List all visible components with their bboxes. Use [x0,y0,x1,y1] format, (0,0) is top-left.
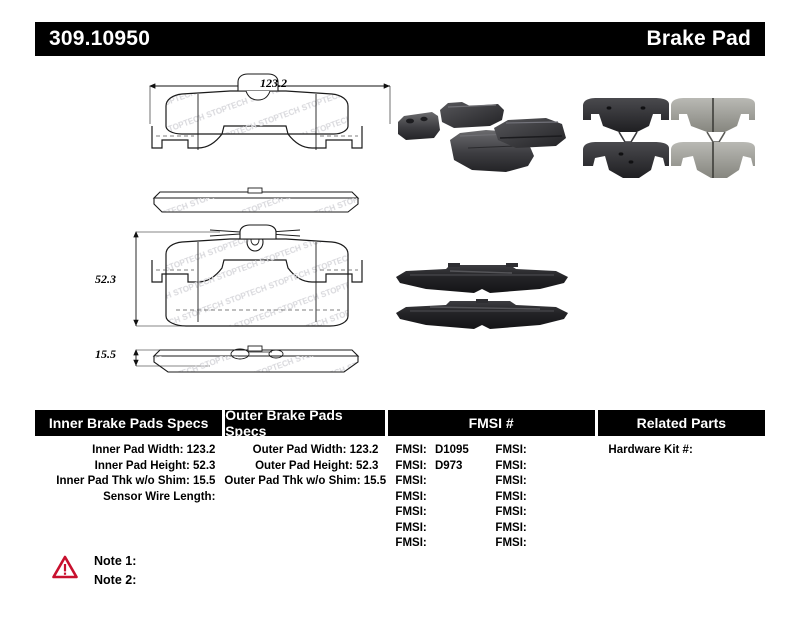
spec-row: Outer Pad Height: 52.3 [224,459,384,475]
fmsi-value [427,491,432,503]
fmsi-row: FMSI: [495,521,595,537]
fmsi-row: FMSI: [495,474,595,490]
fmsi-subcolumn-left: FMSI: D1095 FMSI: D973 FMSI: FMSI: [395,443,495,552]
spec-row: Outer Pad Width: 123.2 [224,443,384,459]
fmsi-row: FMSI: [395,505,495,521]
drawing-area: STOPTECH [35,64,765,394]
outer-specs-column: Outer Pad Width: 123.2 Outer Pad Height:… [224,443,384,552]
related-parts-column: Hardware Kit #: [598,443,765,552]
spec-label: Inner Pad Height: [95,460,190,472]
spec-label: Inner Pad Width: [92,444,183,456]
header-bar: 309.10950 Brake Pad [35,22,765,56]
spec-row: Inner Pad Thk w/o Shim: 15.5 [35,474,221,490]
pad-set-angled-photo [390,92,580,182]
note-line-2: Note 2: [94,571,136,590]
dimension-height-label: 52.3 [95,272,116,287]
pad-set-angled-svg [390,92,580,182]
fmsi-label: FMSI: [495,537,526,549]
fmsi-label: FMSI: [495,491,526,503]
fmsi-value [527,491,532,503]
notes-text-block: Note 1: Note 2: [94,552,136,590]
column-header-inner-specs: Inner Brake Pads Specs [35,410,222,436]
spec-table: Inner Brake Pads Specs Outer Brake Pads … [35,410,765,552]
pad-pair-edge-photo [390,259,575,344]
fmsi-row: FMSI: [395,521,495,537]
fmsi-label: FMSI: [395,444,426,456]
fmsi-value: D1095 [430,444,469,456]
fmsi-label: FMSI: [495,475,526,487]
fmsi-label: FMSI: [395,460,426,472]
fmsi-value [527,460,532,472]
fmsi-value [427,537,432,549]
fmsi-subcolumn-right: FMSI: FMSI: FMSI: FMSI: [495,443,595,552]
fmsi-row: FMSI: [395,536,495,552]
dimension-thickness-label: 15.5 [95,347,116,362]
fmsi-label: FMSI: [395,475,426,487]
fmsi-row: FMSI: [395,490,495,506]
fmsi-row: FMSI: D1095 [395,443,495,459]
spec-label: Outer Pad Thk w/o Shim: [224,475,360,487]
fmsi-value [527,444,532,456]
fmsi-label: FMSI: [395,491,426,503]
fmsi-label: FMSI: [395,506,426,518]
spec-label: Inner Pad Thk w/o Shim: [56,475,190,487]
fmsi-value [527,522,532,534]
related-parts-row: Hardware Kit #: [598,443,765,459]
notes-section: Note 1: Note 2: [52,552,136,590]
spec-table-header-row: Inner Brake Pads Specs Outer Brake Pads … [35,410,765,436]
spec-value: 123.2 [187,444,216,456]
fmsi-value [527,506,532,518]
technical-drawing-svg: STOPTECH [90,64,420,394]
fmsi-label: FMSI: [395,522,426,534]
pad-set-grid-svg [575,92,755,187]
fmsi-value [427,506,432,518]
fmsi-row: FMSI: [395,474,495,490]
spec-table-body: Inner Pad Width: 123.2 Inner Pad Height:… [35,436,765,552]
fmsi-label: FMSI: [495,522,526,534]
fmsi-row: FMSI: D973 [395,459,495,475]
pad-thickness-view [136,346,358,372]
spec-label: Outer Pad Width: [253,444,347,456]
fmsi-value [527,475,532,487]
fmsi-value [427,475,432,487]
product-type-title: Brake Pad [646,27,751,51]
spec-row: Inner Pad Height: 52.3 [35,459,221,475]
technical-drawing: STOPTECH [90,64,420,394]
pad-pair-edge-svg [390,259,575,344]
spec-row: Inner Pad Width: 123.2 [35,443,221,459]
pad-set-grid-photo [575,92,755,187]
warning-triangle-icon [52,555,78,579]
note-line-1: Note 1: [94,552,136,571]
part-number: 309.10950 [49,27,150,51]
spec-label: Outer Pad Height: [255,460,353,472]
fmsi-value [527,537,532,549]
dimension-width-label: 123.2 [260,76,287,91]
spec-value: 15.5 [364,475,386,487]
spec-value: 15.5 [193,475,215,487]
fmsi-column: FMSI: D1095 FMSI: D973 FMSI: FMSI: [387,443,595,552]
fmsi-label: FMSI: [495,460,526,472]
spec-value: 52.3 [356,460,378,472]
column-header-fmsi: FMSI # [388,410,595,436]
spec-row: Sensor Wire Length: [35,490,221,506]
column-header-related-parts: Related Parts [598,410,765,436]
fmsi-label: FMSI: [495,444,526,456]
spec-row: Outer Pad Thk w/o Shim: 15.5 [224,474,384,490]
fmsi-value: D973 [430,460,463,472]
fmsi-row: FMSI: [495,459,595,475]
fmsi-row: FMSI: [495,505,595,521]
spec-value: 52.3 [193,460,215,472]
fmsi-row: FMSI: [495,490,595,506]
pad-edge-strip-view [154,188,358,212]
spec-label: Sensor Wire Length: [103,491,215,503]
related-parts-label: Hardware Kit #: [608,444,692,456]
fmsi-value [427,522,432,534]
fmsi-label: FMSI: [395,537,426,549]
pad-back-view [136,225,362,326]
column-header-outer-specs: Outer Brake Pads Specs [225,410,384,436]
inner-specs-column: Inner Pad Width: 123.2 Inner Pad Height:… [35,443,221,552]
fmsi-row: FMSI: [495,536,595,552]
fmsi-row: FMSI: [495,443,595,459]
spec-value: 123.2 [350,444,379,456]
fmsi-label: FMSI: [495,506,526,518]
